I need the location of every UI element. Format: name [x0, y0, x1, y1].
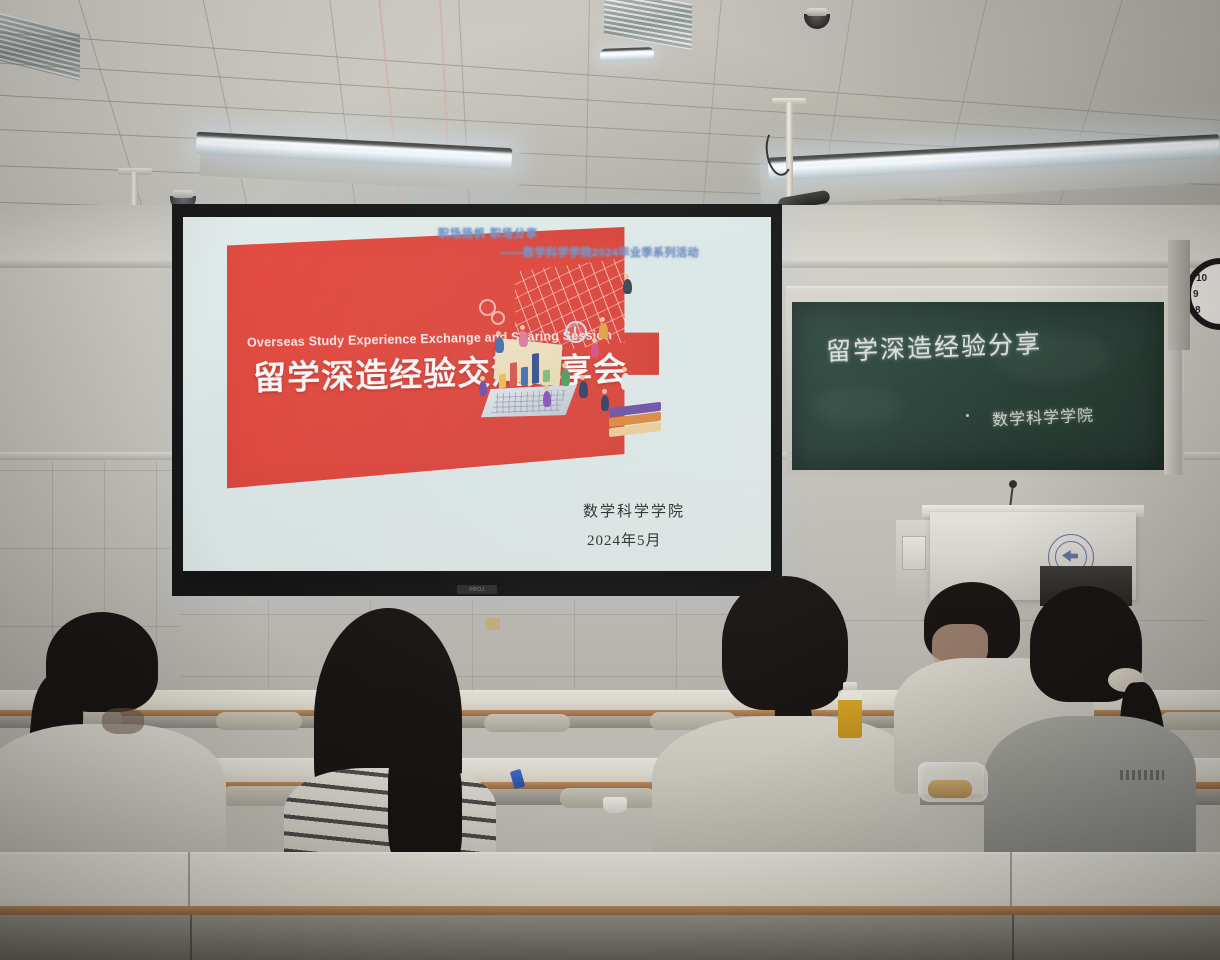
person-head [480, 376, 485, 381]
chalk-smudge [812, 386, 902, 426]
slide-footer-date: 2024年5月 [587, 529, 662, 550]
person-head [580, 375, 585, 380]
person-head [624, 274, 629, 279]
person-figure [579, 381, 588, 398]
foreground-desk-edge [0, 906, 1220, 915]
books-illustration [609, 402, 661, 444]
paper-cup [603, 797, 627, 813]
wall-socket [486, 618, 500, 630]
wall-tile-line [676, 600, 677, 700]
person-figure [591, 343, 599, 358]
podium-control-panel [902, 536, 926, 570]
blackboard: 留学深造经验分享 数学科学学院 [792, 302, 1164, 470]
chalk-dot [966, 414, 969, 417]
person-figure [561, 369, 570, 386]
wall-tile-line [268, 600, 269, 700]
classroom-scene: 职场扬帆 职场分享 ——数学科学学院2024毕业季系列活动 Overseas S… [0, 0, 1220, 960]
wall-tile-line [0, 470, 180, 471]
person-head [602, 389, 607, 394]
drink-bottle [838, 690, 862, 738]
slide-header-line-2: ——数学科学学院2024毕业季系列活动 [500, 244, 699, 260]
foreground-desk-underside [0, 915, 1220, 960]
slide-illustration [473, 265, 663, 465]
snack-contents [928, 780, 972, 798]
desk-seam [188, 852, 190, 914]
person-head [622, 367, 627, 372]
person-head [544, 385, 549, 390]
slide-header-line-1: 职场扬帆 职场分享 [438, 225, 538, 241]
torso [652, 716, 920, 864]
clock-number: 10 [1196, 273, 1207, 284]
person-head [592, 338, 597, 343]
person-figure [543, 391, 551, 407]
bench-seat [1160, 712, 1220, 730]
person-figure [519, 331, 528, 347]
person-head [496, 331, 501, 336]
slide-surface: 职场扬帆 职场分享 ——数学科学学院2024毕业季系列活动 Overseas S… [183, 217, 771, 571]
bench-seat [484, 714, 570, 732]
neck-shadow [102, 708, 144, 734]
wall-tile-line [180, 614, 780, 615]
person-figure [601, 395, 609, 411]
chart-bar [499, 374, 506, 389]
clock-number: 8 [1195, 305, 1201, 316]
gear-icon [491, 311, 505, 325]
shirt-print [1120, 770, 1164, 780]
torso [984, 716, 1196, 862]
person-figure [599, 323, 608, 339]
chart-bar [543, 369, 550, 382]
desk-seam [1012, 915, 1014, 960]
slide-footer-organization: 数学科学学院 [583, 500, 685, 521]
chart-bar [532, 353, 539, 384]
blackboard-subtitle: 数学科学学院 [991, 402, 1094, 431]
clock-number: 9 [1193, 289, 1199, 300]
desk-seam [190, 915, 192, 960]
bench-seat [216, 712, 302, 730]
wall-tile-line [472, 600, 473, 700]
screen-brand-label: PROJ [457, 585, 497, 594]
clock-icon [565, 321, 587, 343]
person-figure [495, 337, 504, 353]
person-head [520, 325, 525, 330]
wall-tile-line [0, 548, 180, 549]
ceiling-light-far [600, 47, 654, 62]
projection-screen: 职场扬帆 职场分享 ——数学科学学院2024毕业季系列活动 Overseas S… [172, 204, 782, 596]
person-head [600, 317, 605, 322]
person-head [562, 363, 567, 368]
person-figure [479, 381, 487, 396]
person-figure [621, 373, 630, 390]
wall-tile-line [180, 676, 780, 677]
chart-bar [510, 362, 517, 387]
ceiling [0, 0, 1220, 215]
person-figure [623, 279, 632, 294]
wall-edge-column [1168, 240, 1190, 350]
wall-tile-line [574, 600, 575, 700]
desk-seam [1010, 852, 1012, 914]
chart-bar [521, 367, 528, 386]
